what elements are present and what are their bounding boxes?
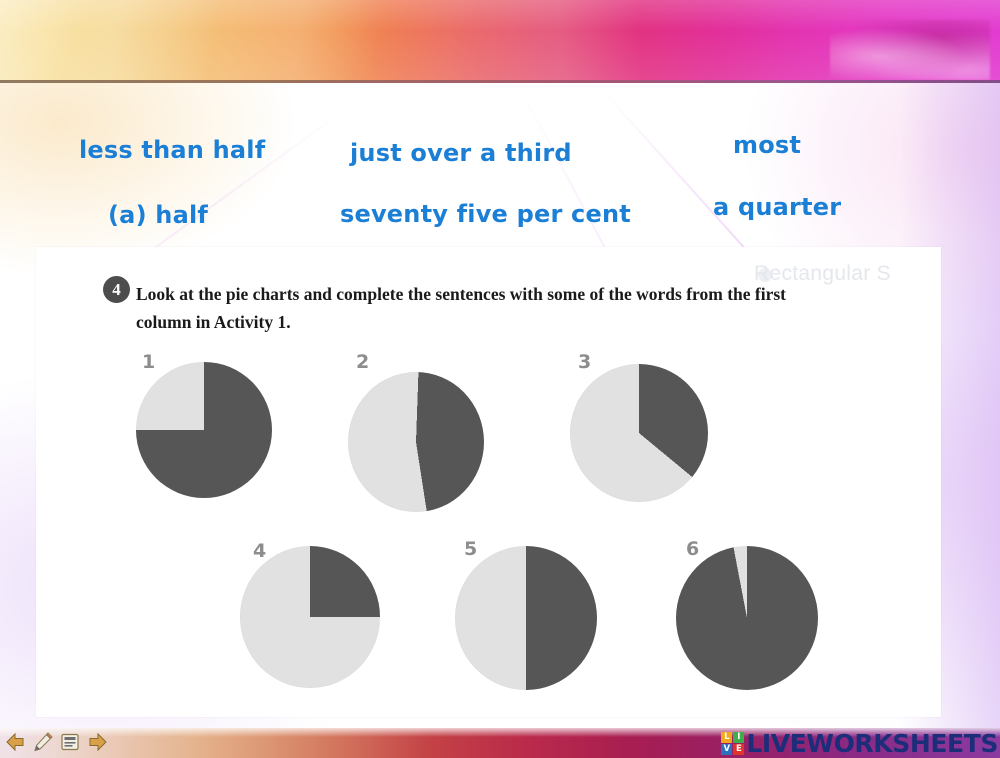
word-bank-item-just-over-a-third[interactable]: just over a third xyxy=(350,139,572,167)
pie-chart-2-label: 2 xyxy=(356,351,369,373)
pie-chart-6 xyxy=(676,546,818,690)
word-bank-item-a-quarter[interactable]: a quarter xyxy=(713,193,841,221)
word-bank-item-most[interactable]: most xyxy=(733,131,801,159)
pie-chart-1-label: 1 xyxy=(142,351,155,373)
pie-chart-3 xyxy=(570,364,708,502)
pie-chart-6-label: 6 xyxy=(686,538,699,560)
task-instruction: Look at the pie charts and complete the … xyxy=(136,280,826,337)
top-decorative-banner xyxy=(0,0,1000,80)
banner-smudge xyxy=(830,20,990,80)
word-bank-item-less-than-half[interactable]: less than half xyxy=(79,136,265,164)
logo-letter-i: I xyxy=(733,732,744,743)
logo-letter-v: V xyxy=(721,744,732,755)
pie-chart-1 xyxy=(136,362,272,498)
pie-chart-5-label: 5 xyxy=(464,538,477,560)
logo-wordmark: LIVEWORKSHEETS xyxy=(746,729,998,758)
pencil-icon[interactable] xyxy=(31,730,55,754)
toolbar-buttons xyxy=(4,730,109,754)
worksheet-page: less than half just over a third most (a… xyxy=(0,0,1000,758)
pie-chart-4-label: 4 xyxy=(253,540,266,562)
right-arrow-icon[interactable] xyxy=(85,730,109,754)
logo-color-blocks: L I V E xyxy=(721,732,744,755)
liveworksheets-logo[interactable]: L I V E LIVEWORKSHEETS xyxy=(721,729,998,758)
document-icon[interactable] xyxy=(58,730,82,754)
logo-letter-e: E xyxy=(733,744,744,755)
task-number-badge: 4 xyxy=(103,276,130,303)
word-bank-item-seventy-five-per-cent[interactable]: seventy five per cent xyxy=(340,200,631,228)
word-bank-item-a-half[interactable]: (a) half xyxy=(108,201,208,229)
pie-chart-2 xyxy=(348,372,484,512)
left-arrow-icon[interactable] xyxy=(4,730,28,754)
pie-chart-3-label: 3 xyxy=(578,351,591,373)
pie-chart-4 xyxy=(240,546,380,688)
pie-chart-5 xyxy=(455,546,597,690)
logo-letter-l: L xyxy=(721,732,732,743)
